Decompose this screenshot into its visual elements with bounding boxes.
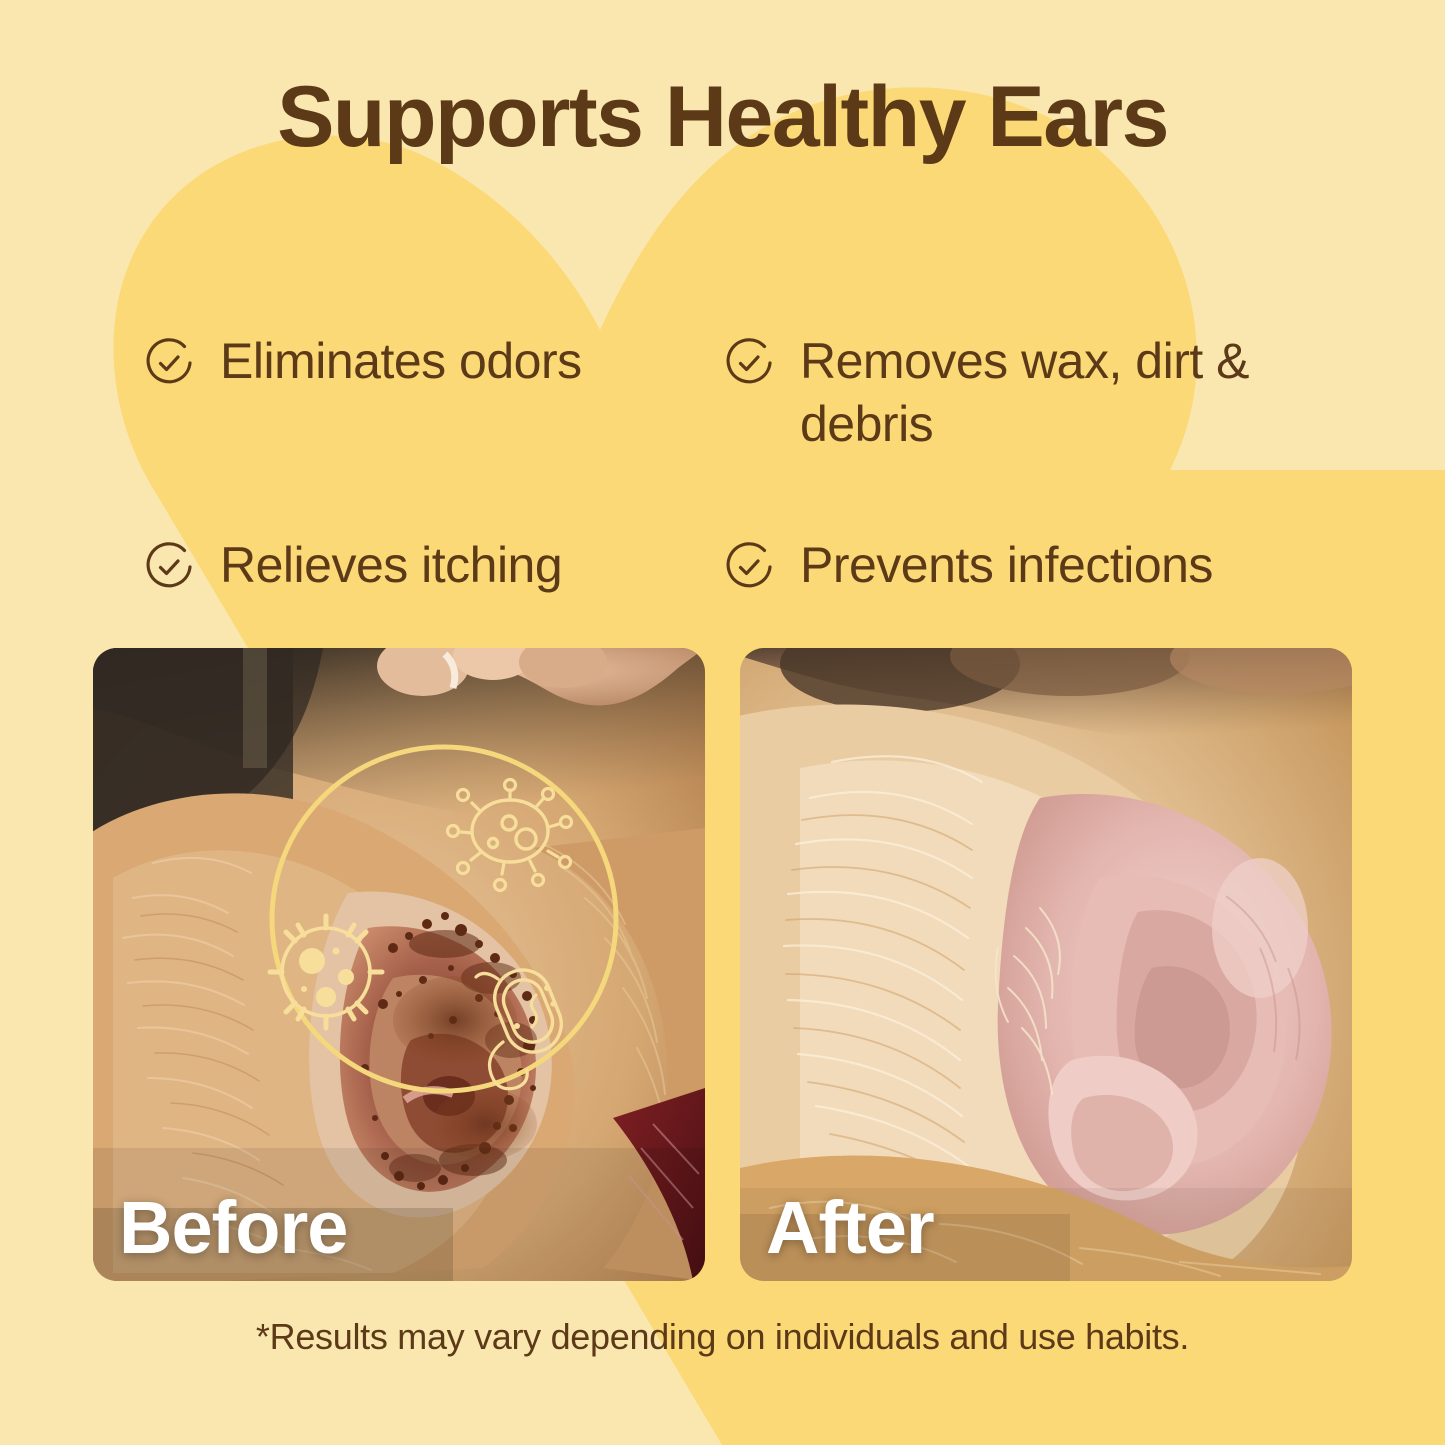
feature-label: Eliminates odors — [220, 330, 582, 393]
before-caption: Before — [119, 1191, 347, 1265]
feature-item-eliminates-odors: Eliminates odors — [140, 330, 720, 456]
check-circle-icon — [140, 334, 198, 392]
after-photo-panel[interactable]: After — [740, 648, 1352, 1281]
feature-item-relieves-itching: Relieves itching — [140, 534, 720, 597]
feature-label: Relieves itching — [220, 534, 562, 597]
feature-label: Removes wax, dirt & debris — [800, 330, 1315, 456]
feature-list: Eliminates odors Removes wax, dirt & deb… — [140, 330, 1315, 597]
before-after-panels: Before — [93, 648, 1352, 1281]
check-circle-icon — [140, 538, 198, 596]
after-caption: After — [766, 1191, 934, 1265]
check-circle-icon — [720, 334, 778, 392]
before-photo-panel[interactable]: Before — [93, 648, 705, 1281]
infographic-page: Supports Healthy Ears Eliminates odors R… — [0, 0, 1445, 1445]
feature-item-removes-wax-dirt-debris: Removes wax, dirt & debris — [720, 330, 1315, 456]
disclaimer-text: *Results may vary depending on individua… — [0, 1316, 1445, 1358]
feature-label: Prevents infections — [800, 534, 1213, 597]
check-circle-icon — [720, 538, 778, 596]
feature-item-prevents-infections: Prevents infections — [720, 534, 1315, 597]
page-title: Supports Healthy Ears — [0, 72, 1445, 162]
